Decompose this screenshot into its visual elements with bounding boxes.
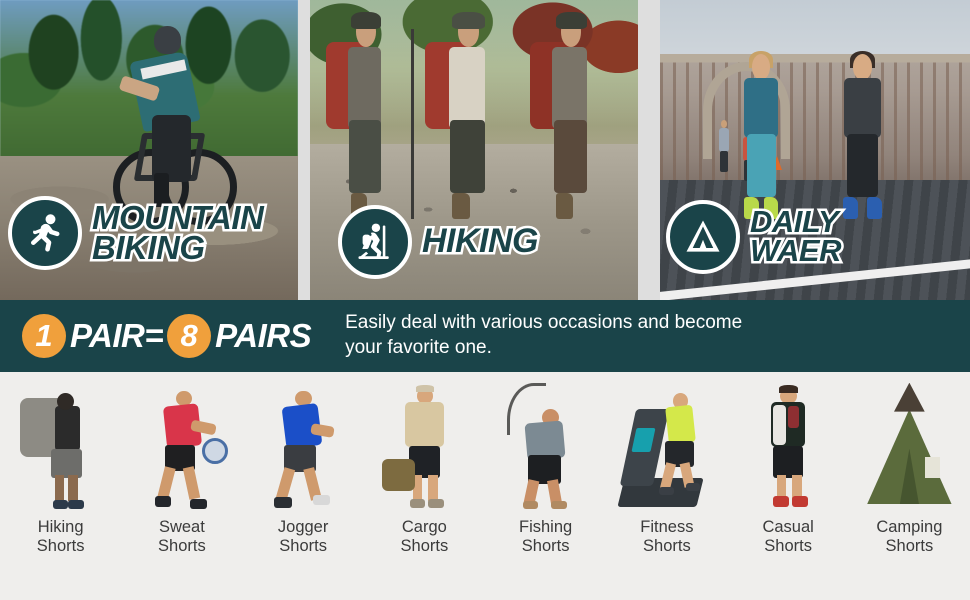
figure-shoe [428, 499, 443, 508]
runner-head [752, 54, 770, 80]
duffel-bag [382, 459, 415, 491]
runner-tank-top [844, 78, 880, 137]
product-label-line1: Sweat [158, 518, 206, 537]
runner-tank-top [744, 78, 778, 137]
jogger-shorts-figure [255, 380, 351, 512]
badge-label-line1: HIKING [422, 226, 538, 257]
hiker-torso [348, 47, 381, 129]
figure-legs [428, 475, 438, 501]
hiker-figure-center [422, 12, 512, 228]
cargo-shorts-figure [376, 380, 472, 512]
product-label-line2: Shorts [519, 537, 572, 556]
promo-number-one: 1 [22, 314, 66, 358]
product-label: Fitness Shorts [640, 518, 693, 557]
product-item-fishing-shorts[interactable]: Fishing Shorts [485, 372, 606, 600]
scene-bridge-structure [660, 54, 970, 192]
product-item-hiking-shorts[interactable]: Hiking Shorts [0, 372, 121, 600]
figure-legs [276, 468, 295, 501]
figure-shoe [551, 501, 566, 509]
hiker-torso [552, 47, 586, 129]
activity-badge-daily-wear[interactable]: DAILY WAER [666, 200, 841, 274]
running-man-icon [8, 196, 82, 270]
figure-legs [55, 475, 65, 501]
tent-icon [666, 200, 740, 274]
promo-word-pair: PAIR= [70, 317, 163, 355]
figure-shirt [405, 402, 443, 447]
hiker-figure-right [526, 12, 612, 228]
hiker-hat [351, 12, 381, 29]
hiker-cap [452, 12, 484, 29]
runner-shorts [747, 134, 776, 197]
cyclist-helmet [154, 26, 180, 53]
product-label-line2: Shorts [640, 537, 693, 556]
trekking-pole [411, 29, 414, 219]
activity-badge-label: MOUNTAIN BIKING [92, 203, 263, 264]
product-category-grid: Hiking Shorts Sweat [0, 372, 970, 600]
fishing-shorts-figure [498, 380, 594, 512]
figure-legs [68, 475, 78, 501]
product-label-line2: Shorts [876, 537, 942, 556]
figure-tank-top [665, 405, 696, 445]
product-label-line2: Shorts [401, 537, 449, 556]
hiker-boot [556, 193, 573, 219]
figure-shoe [155, 496, 171, 507]
runner-shoe [843, 197, 858, 220]
product-item-fitness-shorts[interactable]: Fitness Shorts [606, 372, 727, 600]
product-label-line1: Camping [876, 518, 942, 537]
fitness-shorts-figure [619, 380, 715, 512]
product-row: Hiking Shorts Sweat [0, 372, 970, 600]
runner-shoe [867, 197, 882, 220]
figure-shoe [686, 483, 700, 491]
product-label: Hiking Shorts [37, 518, 85, 557]
hiking-shorts-figure [13, 380, 109, 512]
figure-shoe [313, 495, 330, 506]
product-label-line1: Casual [762, 518, 813, 537]
figure-shoe [773, 496, 789, 507]
activity-badge-mountain-biking[interactable]: MOUNTAIN BIKING [8, 196, 263, 270]
runner-shorts [847, 134, 878, 197]
product-label-line1: Fitness [640, 518, 693, 537]
product-label-line1: Jogger [278, 518, 328, 537]
badge-label-line2: BIKING [92, 233, 263, 263]
tent-peak [894, 383, 925, 412]
hiker-cap [556, 12, 587, 29]
product-item-cargo-shorts[interactable]: Cargo Shorts [364, 372, 485, 600]
runner-head [853, 54, 873, 80]
product-label-line2: Shorts [158, 537, 206, 556]
product-label: Fishing Shorts [519, 518, 572, 557]
product-label: Jogger Shorts [278, 518, 328, 557]
figure-shoe [274, 497, 291, 508]
hiker-with-backpack-icon [338, 205, 412, 279]
hiker-shorts [450, 120, 484, 193]
figure-shoe [190, 499, 207, 510]
product-item-casual-shorts[interactable]: Casual Shorts [728, 372, 849, 600]
tennis-racket [202, 438, 228, 464]
product-feature-banner: MOUNTAIN BIKING HIKING [0, 0, 970, 600]
figure-cap [416, 385, 434, 392]
figure-legs [183, 466, 200, 499]
pedestrian-head [721, 120, 727, 128]
activity-badge-label: DAILY WAER [750, 208, 841, 265]
product-item-camping-shorts[interactable]: Camping Shorts [849, 372, 970, 600]
figure-shoe [792, 496, 808, 507]
product-label-line2: Shorts [278, 537, 328, 556]
figure-shoe [523, 501, 538, 509]
product-label: Camping Shorts [876, 518, 942, 557]
sweat-shorts-figure [134, 380, 230, 512]
figure-shoe [53, 500, 68, 509]
product-label: Casual Shorts [762, 518, 813, 557]
camping-shorts-figure [861, 380, 957, 512]
promo-word-pairs: PAIRS [215, 317, 311, 355]
product-label-line1: Hiking [37, 518, 85, 537]
promo-tagline-line1: Easily deal with various occasions and b… [345, 311, 742, 336]
figure-shorts [51, 449, 82, 478]
product-item-sweat-shorts[interactable]: Sweat Shorts [121, 372, 242, 600]
promo-bar: 1 PAIR= 8 PAIRS Easily deal with various… [0, 300, 970, 372]
figure-shorts [773, 446, 804, 478]
hiker-torso [449, 47, 485, 129]
hiker-shorts [349, 120, 380, 193]
pedestrian-legs [720, 151, 728, 172]
figure-jacket-panel [773, 405, 786, 445]
figure-shoe [410, 499, 425, 508]
casual-shorts-figure [740, 380, 836, 512]
figure-shoe [68, 500, 83, 509]
product-label-line2: Shorts [37, 537, 85, 556]
promo-number-eight: 8 [167, 314, 211, 358]
figure-shoe [659, 487, 673, 495]
hiker-shorts [554, 120, 587, 193]
promo-tagline-line2: your favorite one. [345, 336, 742, 361]
product-label-line2: Shorts [762, 537, 813, 556]
product-item-jogger-shorts[interactable]: Jogger Shorts [243, 372, 364, 600]
product-label-line1: Cargo [401, 518, 449, 537]
product-label-line1: Fishing [519, 518, 572, 537]
activity-badge-label: HIKING [422, 226, 538, 257]
activity-badge-hiking[interactable]: HIKING [338, 205, 538, 279]
figure-legs [157, 466, 175, 499]
product-label: Sweat Shorts [158, 518, 206, 557]
figure-torso [55, 406, 80, 451]
cyclist-shorts [152, 115, 191, 182]
hiker-figure-left [323, 12, 405, 228]
figure-hair [779, 385, 797, 393]
promo-tagline: Easily deal with various occasions and b… [345, 311, 742, 360]
tent-window [925, 457, 940, 478]
badge-label-line2: WAER [750, 237, 841, 266]
figure-jacket-accent [788, 406, 799, 427]
promo-equation: 1 PAIR= 8 PAIRS [22, 314, 315, 358]
product-label: Cargo Shorts [401, 518, 449, 557]
